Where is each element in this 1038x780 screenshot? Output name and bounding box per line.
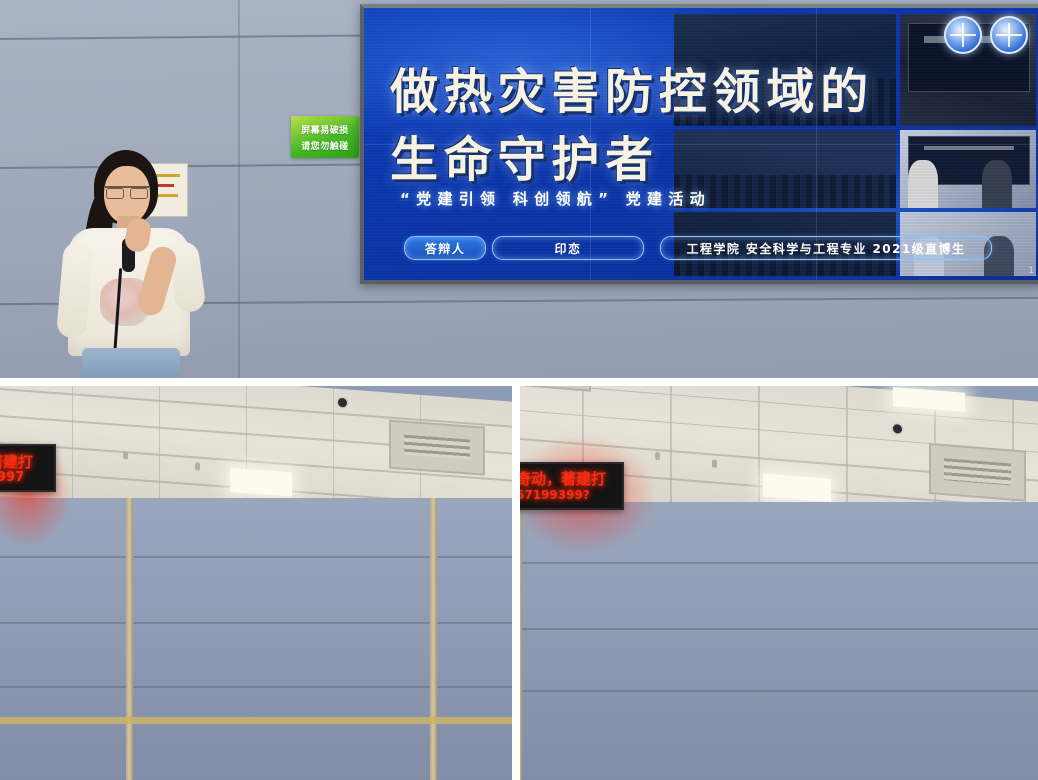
led-line-1: 著建打 [0, 451, 33, 472]
led-scrolling-sign: 奇动，著建打 67199399? [520, 462, 624, 510]
sprinkler-icon [195, 462, 200, 470]
presenter-department-pill: 工程学院 安全科学与工程专业 2021级直博生 [660, 236, 992, 260]
presenter-figure [48, 150, 208, 378]
video-wall-logos [944, 16, 1028, 54]
led-line-2: 3997 [0, 470, 24, 485]
presenter-name-pill: 印恋 [492, 236, 644, 260]
air-conditioner-vent [389, 420, 485, 476]
photo-panel-bottom-left: 著建打 3997 科研工作经历 ——科研项目 中国矿业大学 结题证书 [0, 386, 512, 780]
university-emblem-icon [944, 16, 982, 54]
led-scrolling-sign: 著建打 3997 [0, 444, 56, 492]
led-line-1: 奇动，著建打 [520, 468, 606, 489]
ceiling-light [230, 468, 291, 497]
photo-panel-bottom-right: 奇动，著建打 67199399? 03 建议 中国矿业大学 [520, 386, 1038, 780]
warning-line-1: 屏幕易破损 [301, 123, 349, 136]
video-wall-title-line-1: 做热灾害防控领域的 [390, 52, 874, 122]
presenter-role-pill: 答辩人 [404, 236, 486, 260]
photo-panel-top: 屏幕易破损 请您勿触碰 MENU ⚙ ▣ ⌂ ⇦ ▬ [0, 0, 1038, 378]
photo-collage: 屏幕易破损 请您勿触碰 MENU ⚙ ▣ ⌂ ⇦ ▬ [0, 0, 1038, 780]
air-conditioner-vent [929, 443, 1026, 502]
smoke-detector-icon [338, 398, 347, 408]
university-emblem-icon [990, 16, 1028, 54]
warning-line-2: 请您勿触碰 [301, 139, 349, 152]
sprinkler-icon [712, 460, 717, 468]
video-wall-title-line-2: 生命守护者 [390, 120, 659, 190]
wall-seam-vertical [238, 0, 240, 378]
video-wall-subtitle: “党建引领 科创领航” 党建活动 [400, 188, 711, 209]
slide-page-number: 1 [1028, 266, 1034, 276]
sprinkler-icon [123, 451, 128, 459]
screen-warning-sign: 屏幕易破损 请您勿触碰 [291, 116, 359, 158]
led-line-2: 67199399? [520, 488, 590, 502]
glasses-icon [105, 186, 149, 198]
led-video-wall: 做热灾害防控领域的 生命守护者 “党建引领 科创领航” 党建活动 答辩人 印恋 … [360, 4, 1038, 284]
